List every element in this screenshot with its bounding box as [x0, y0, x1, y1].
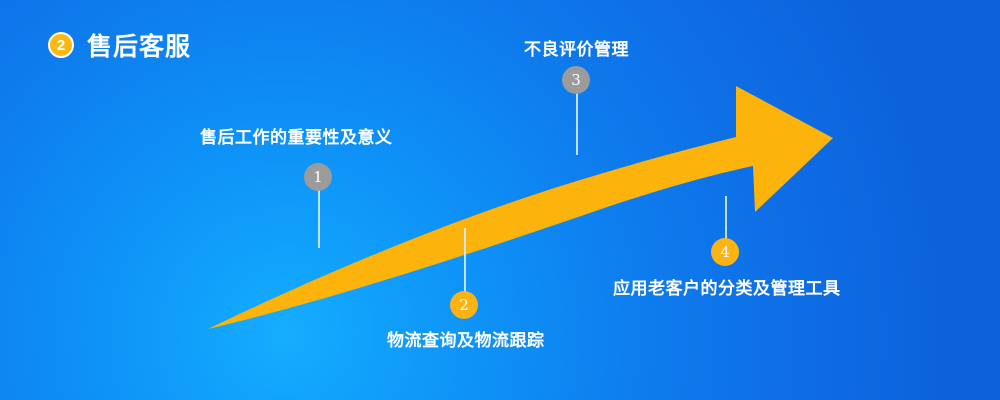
callout-label-2: 物流查询及物流跟踪: [387, 326, 545, 351]
callout-badge-4[interactable]: 4: [711, 238, 739, 266]
callout-badge-1[interactable]: 1: [304, 163, 332, 191]
slide-canvas: 2 售后客服 1 售后工作的重要性及意义 2 物流查询及物流跟踪 3 不良评价管…: [0, 0, 1000, 400]
callout-label-1: 售后工作的重要性及意义: [200, 123, 393, 148]
callout-label-4: 应用老客户的分类及管理工具: [613, 274, 841, 299]
connector-line-2: [464, 228, 466, 294]
callout-badge-2[interactable]: 2: [450, 291, 478, 319]
callout-badge-3[interactable]: 3: [562, 66, 590, 94]
connector-line-4: [725, 196, 727, 240]
connector-line-3: [576, 93, 578, 155]
callout-label-3: 不良评价管理: [524, 35, 629, 60]
connector-line-1: [318, 190, 320, 248]
